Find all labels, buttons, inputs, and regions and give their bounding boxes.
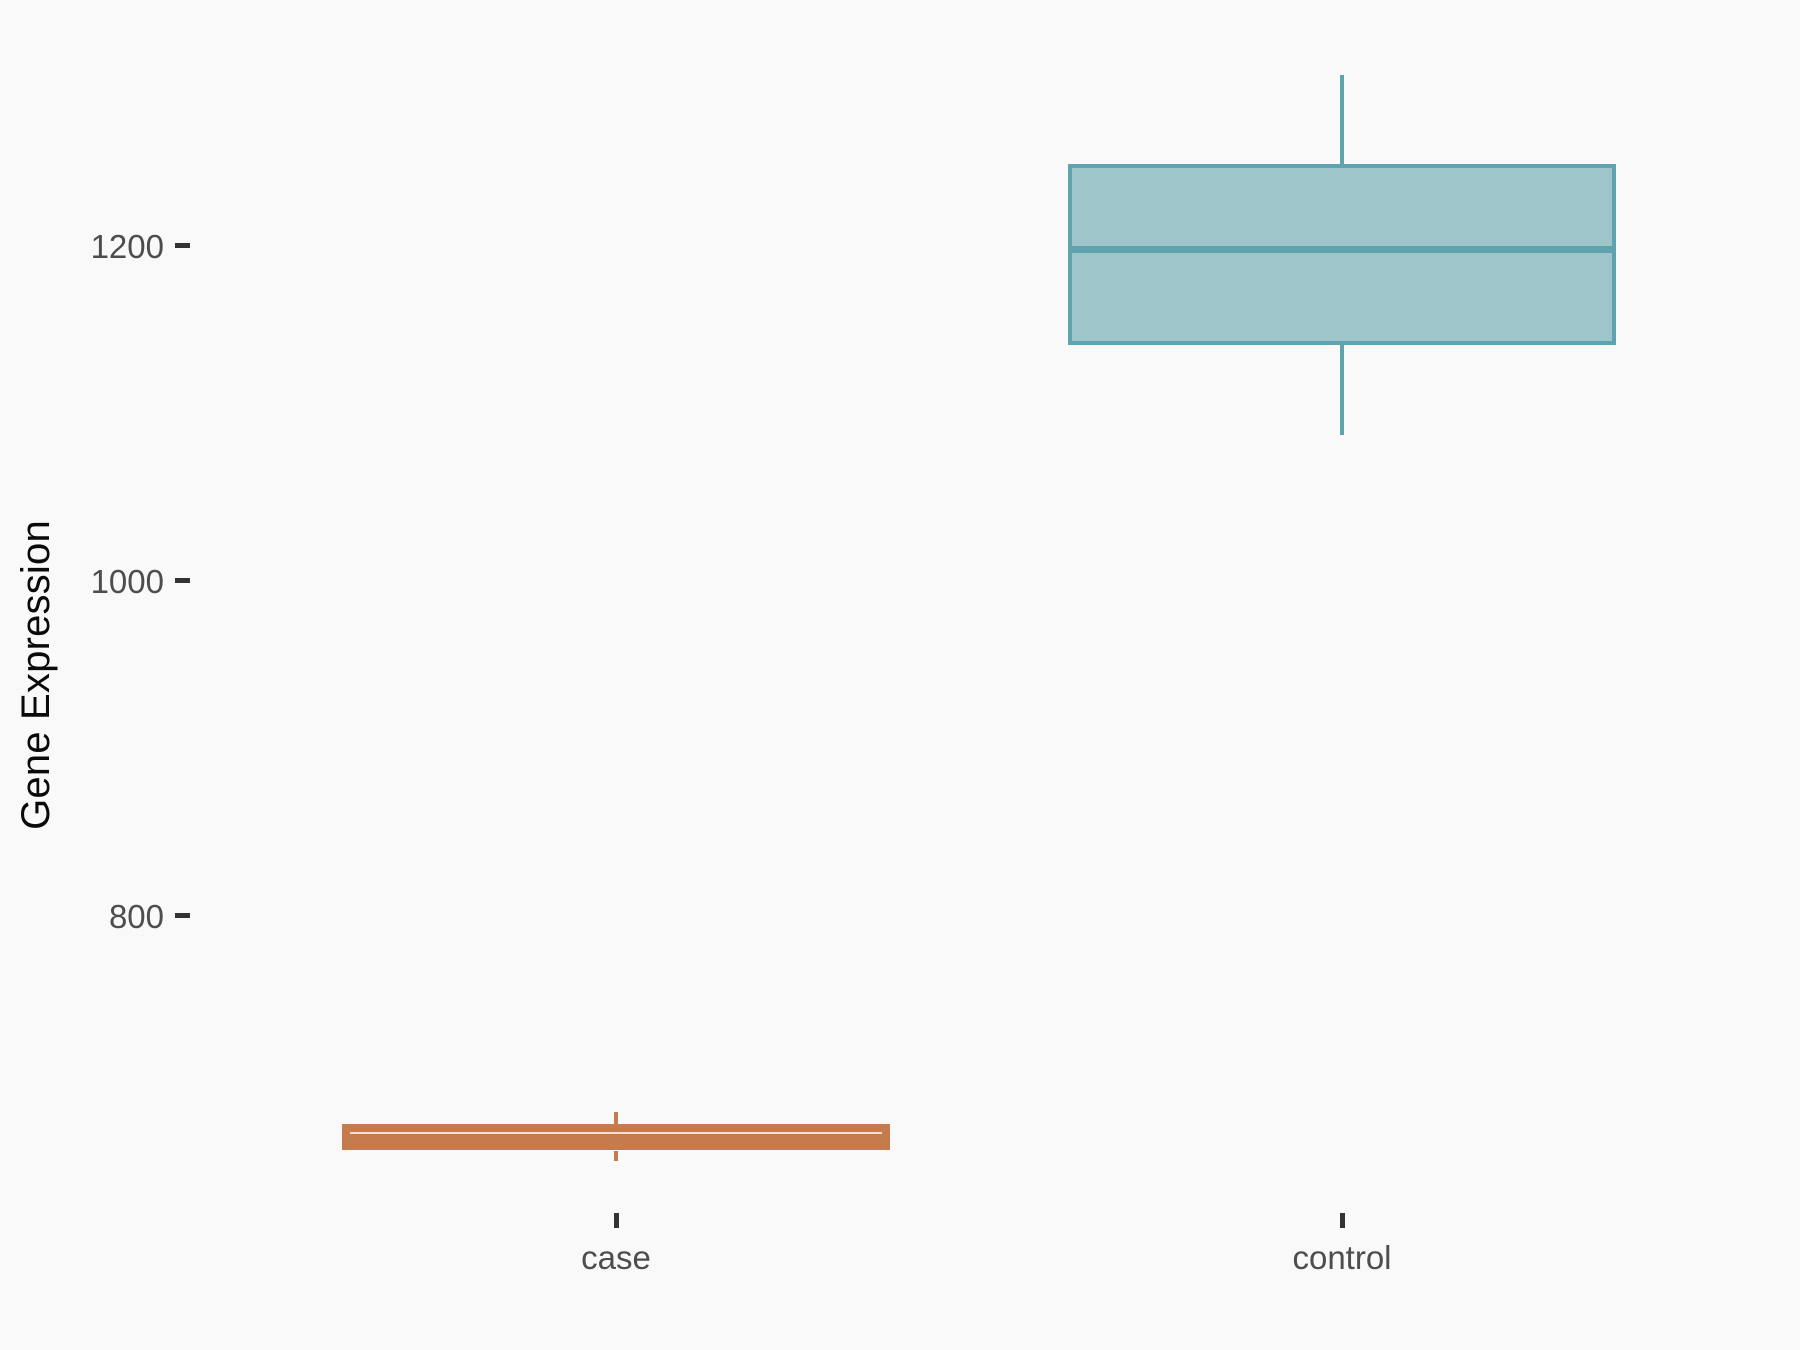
x-tick-mark-case (614, 1213, 619, 1228)
y-tick-label-1200: 1200 (91, 230, 164, 263)
y-tick-label-800: 800 (109, 900, 164, 933)
y-axis-title: Gene Expression (0, 0, 72, 1350)
y-tick-mark-1200 (175, 243, 190, 248)
median-line (1068, 246, 1616, 253)
x-tick-mark-control (1340, 1213, 1345, 1228)
x-tick-label-control: control (1292, 1239, 1391, 1277)
y-tick-mark-1000 (175, 578, 190, 583)
boxplot-chart: Gene Expression 1200 1000 800 case contr… (0, 0, 1800, 1350)
y-tick-1200: 1200 (91, 224, 190, 268)
y-tick-1000: 1000 (91, 559, 190, 603)
median-line (342, 1134, 890, 1143)
whisker-lower (614, 1151, 618, 1161)
y-tick-label-1000: 1000 (91, 565, 164, 598)
whisker-upper (614, 1112, 618, 1124)
whisker-upper (1340, 75, 1344, 164)
y-tick-mark-800 (175, 913, 190, 918)
y-tick-800: 800 (109, 894, 190, 938)
x-tick-label-case: case (581, 1239, 651, 1277)
box-iqr (1068, 164, 1616, 345)
whisker-lower (1340, 345, 1344, 435)
